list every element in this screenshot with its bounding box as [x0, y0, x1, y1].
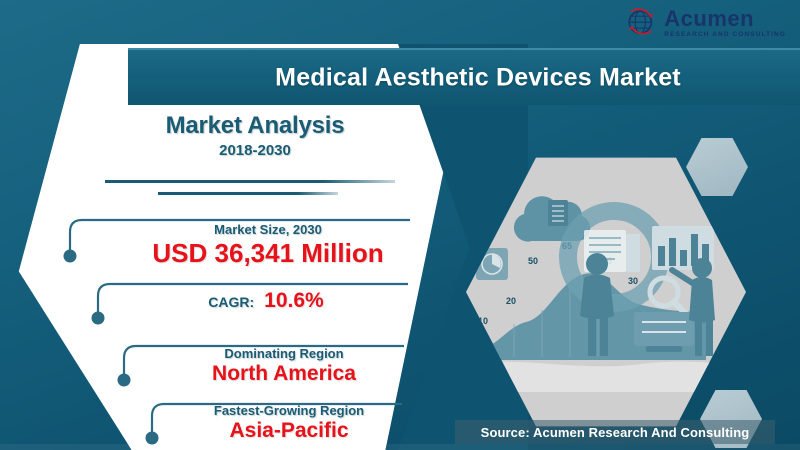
logo-tagline: RESEARCH AND CONSULTING [664, 32, 786, 39]
source-bar: Source: Acumen Research And Consulting [455, 420, 775, 444]
header-band: Medical Aesthetic Devices Market [128, 48, 800, 105]
market-analysis-heading: Market Analysis 2018-2030 [120, 112, 390, 159]
divider-short [158, 192, 338, 195]
analysis-title: Market Analysis [120, 112, 390, 140]
stat-label: Fastest-Growing Region [174, 403, 404, 418]
divider-long [105, 180, 395, 183]
stat-label: Market Size, 2030 [118, 222, 418, 237]
svg-text:30: 30 [628, 276, 638, 286]
stat-label: CAGR: [208, 294, 254, 310]
page-title: Medical Aesthetic Devices Market [128, 63, 800, 92]
svg-text:20: 20 [506, 296, 516, 306]
logo-wordmark: Acumen RESEARCH AND CONSULTING [664, 8, 786, 39]
globe-icon [625, 6, 659, 40]
brand-logo[interactable]: Acumen RESEARCH AND CONSULTING [625, 6, 786, 40]
stat-value: North America [156, 362, 412, 386]
stat-value: USD 36,341 Million [118, 238, 418, 269]
decorative-hexagon-top [686, 138, 748, 196]
svg-text:50: 50 [528, 256, 538, 266]
stat-value: Asia-Pacific [174, 419, 404, 443]
stat-value: 10.6% [264, 289, 324, 313]
stat-label: Dominating Region [156, 346, 412, 361]
source-text: Source: Acumen Research And Consulting [481, 425, 750, 440]
infographic-root: 10 20 50 65 45 30 [0, 0, 800, 450]
analysis-period: 2018-2030 [120, 142, 390, 159]
logo-name: Acumen [664, 8, 786, 30]
